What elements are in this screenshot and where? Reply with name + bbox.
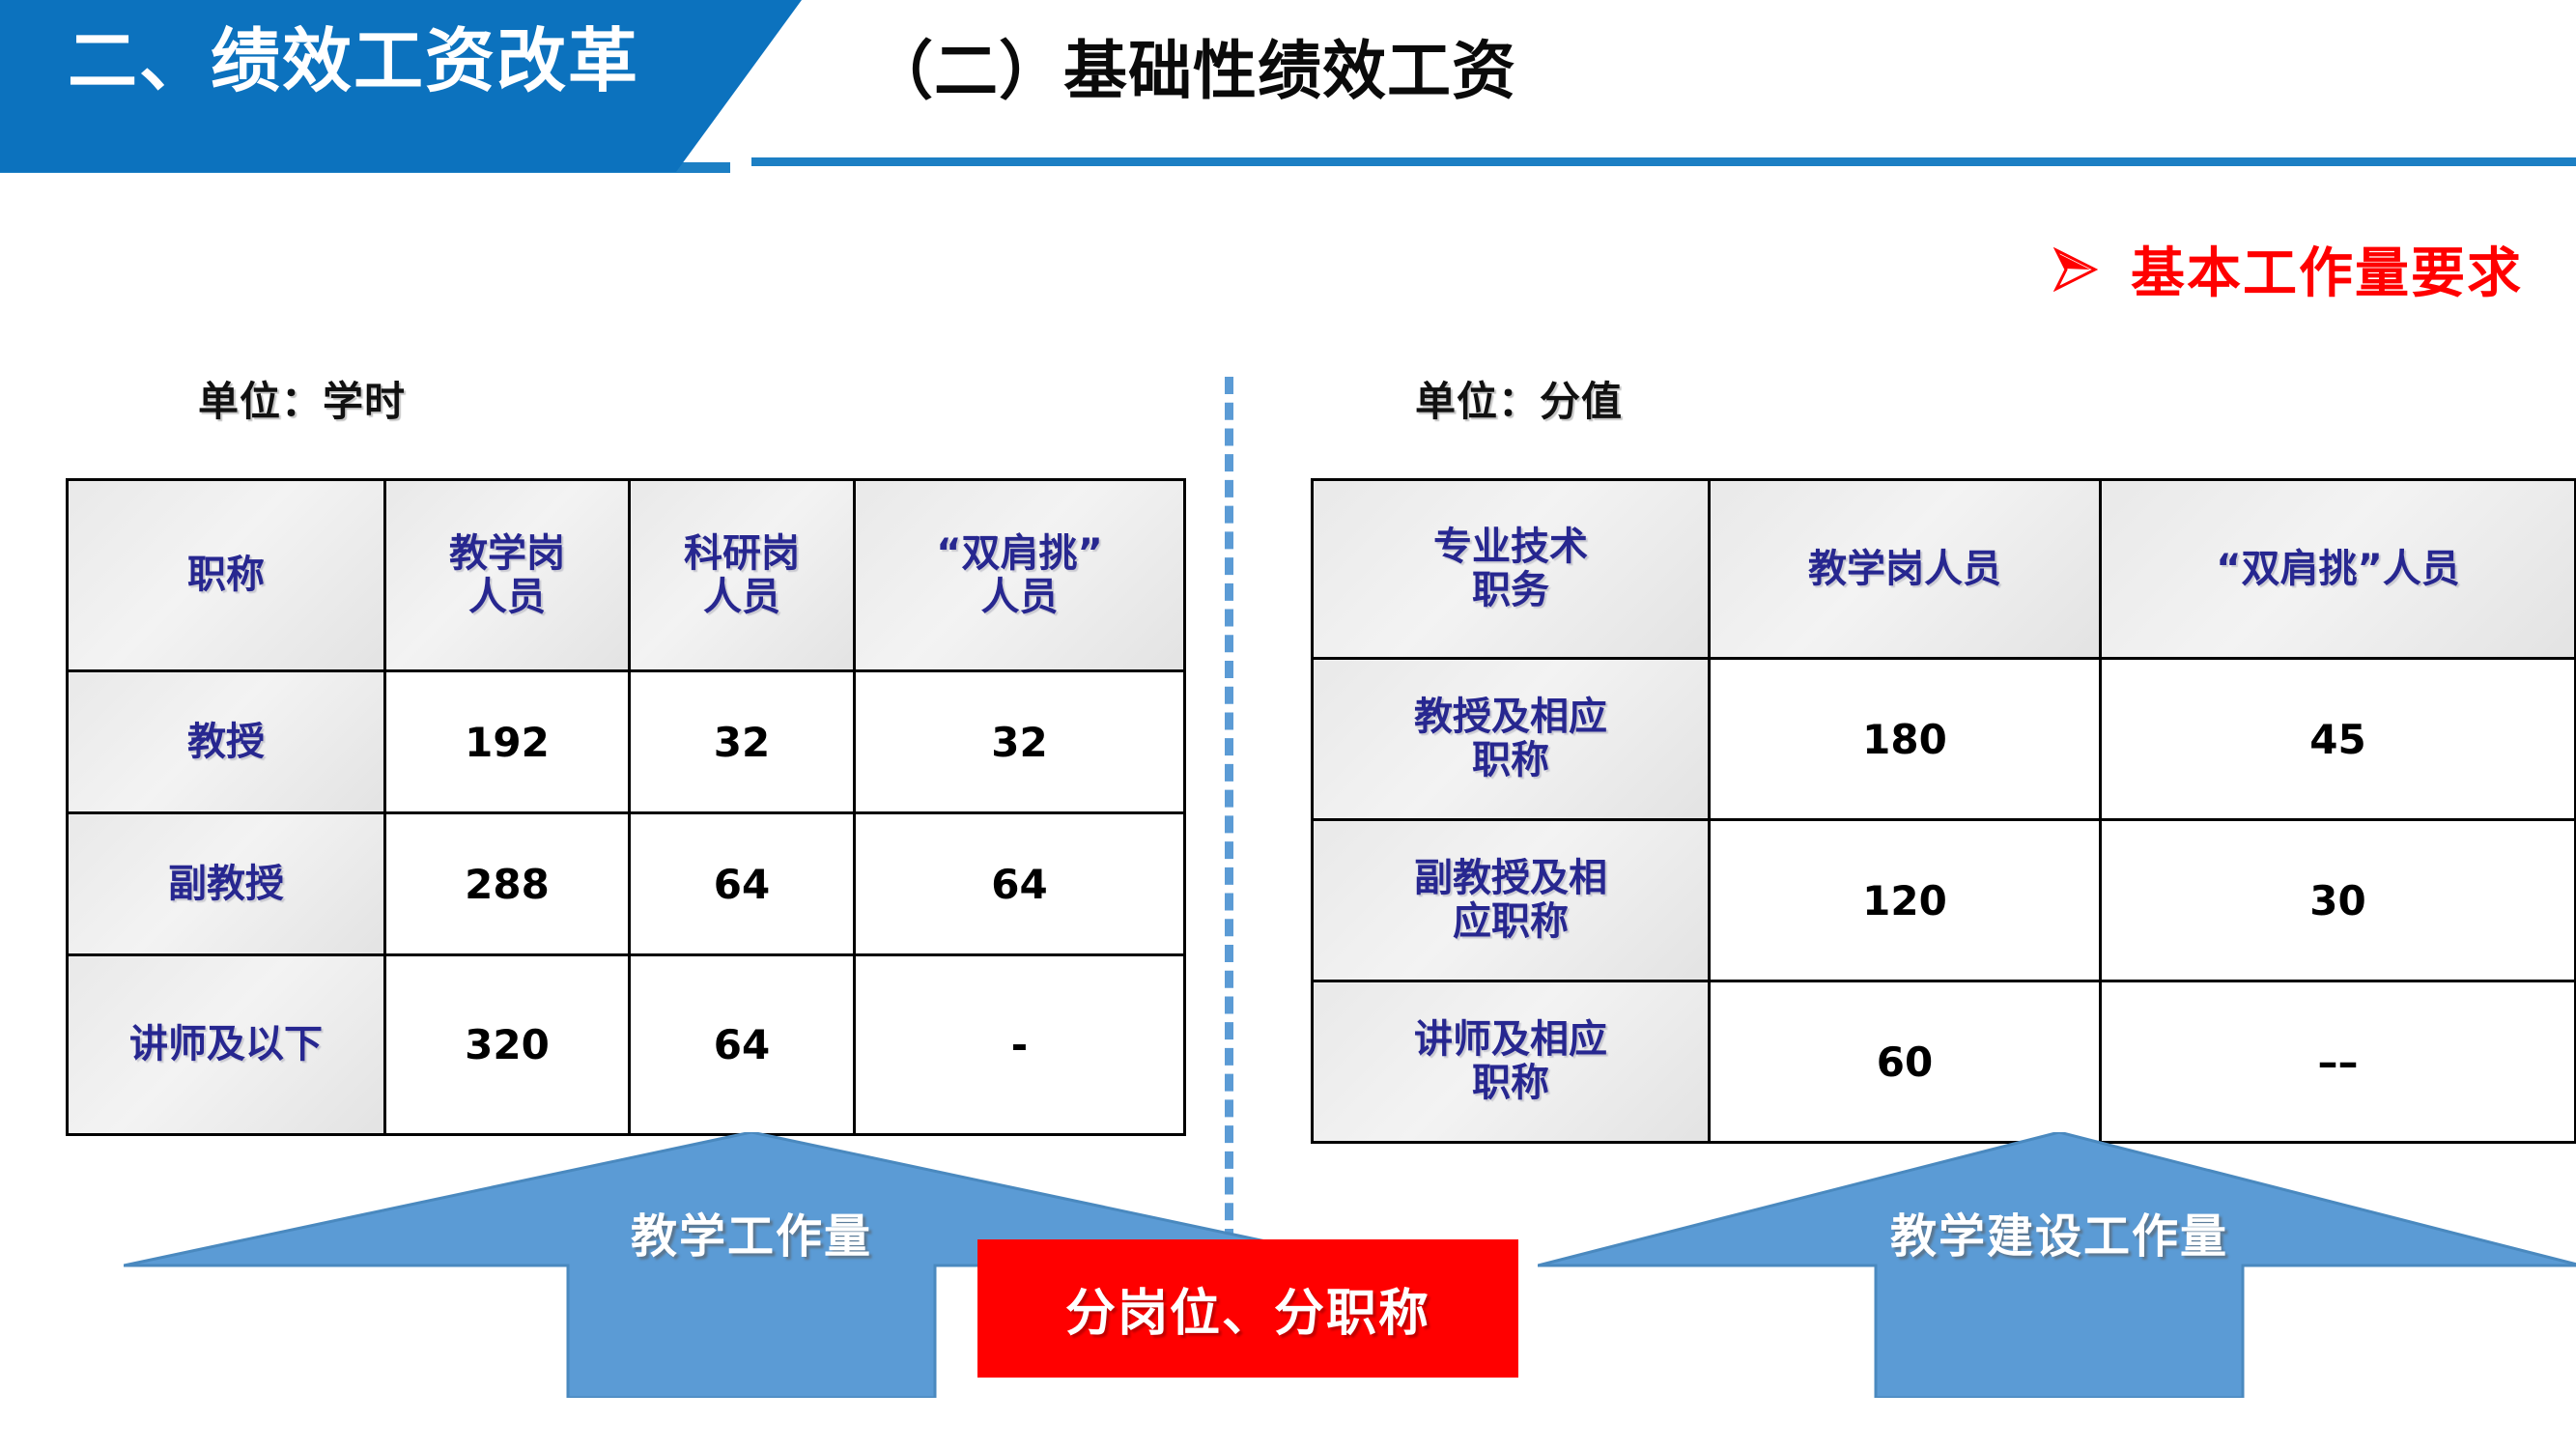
row-label-lecturer-and-below: 讲师及以下: [68, 955, 385, 1135]
table-row: 讲师及以下 320 64 -: [68, 955, 1185, 1135]
header-banner: 二、绩效工资改革: [0, 0, 802, 172]
left-unit-label: 单位：学时: [198, 369, 406, 428]
table-header-row: 职称 教学岗人员 科研岗人员 “双肩挑”人员: [68, 480, 1185, 671]
right-unit-label: 单位：分值: [1415, 369, 1623, 428]
row-label-professor: 教授: [68, 671, 385, 813]
cell-professor-teaching-score: 180: [1710, 659, 2101, 820]
cell-associate-teaching-score: 120: [1710, 820, 2101, 981]
center-callout-label: 分岗位、分职称: [1065, 1272, 1430, 1345]
row-label-associate-professor: 副教授: [68, 813, 385, 955]
cell-lecturer-dual-score: ––: [2101, 981, 2576, 1143]
arrow-bullet-icon: [2053, 246, 2098, 293]
vertical-dashed-divider: [1225, 377, 1233, 1246]
header-banner-label: 二、绩效工资改革: [68, 17, 639, 104]
cell-associate-dual-score: 30: [2101, 820, 2576, 981]
basic-workload-heading: 基本工作量要求: [2053, 230, 2523, 308]
header-cell-research-post: 科研岗人员: [630, 480, 855, 671]
page-title: （二）基础性绩效工资: [869, 19, 1516, 112]
table-row: 教授 192 32 32: [68, 671, 1185, 813]
table-row: 讲师及相应职称 60 ––: [1313, 981, 2576, 1143]
teaching-construction-score-table: 专业技术职务 教学岗人员 “双肩挑”人员 教授及相应职称 180 45 副教授及…: [1311, 478, 2576, 1144]
header-cell-teaching-post: 教学岗人员: [1710, 480, 2101, 659]
row-label-associate-professor-equivalent: 副教授及相应职称: [1313, 820, 1710, 981]
cell-associate-dual: 64: [855, 813, 1185, 955]
center-callout-box: 分岗位、分职称: [977, 1239, 1518, 1378]
cell-professor-dual-score: 45: [2101, 659, 2576, 820]
header-cell-teaching-post: 教学岗人员: [385, 480, 630, 671]
cell-lecturer-dual: -: [855, 955, 1185, 1135]
header-cell-dual-post: “双肩挑”人员: [2101, 480, 2576, 659]
header-horizontal-rule: [751, 157, 2576, 166]
table-row: 副教授及相应职称 120 30: [1313, 820, 2576, 981]
header-cell-dual-post: “双肩挑”人员: [855, 480, 1185, 671]
cell-lecturer-research: 64: [630, 955, 855, 1135]
cell-lecturer-teaching-score: 60: [1710, 981, 2101, 1143]
cell-lecturer-teaching: 320: [385, 955, 630, 1135]
cell-professor-dual: 32: [855, 671, 1185, 813]
cell-professor-teaching: 192: [385, 671, 630, 813]
basic-workload-heading-label: 基本工作量要求: [2131, 230, 2523, 308]
table-row: 副教授 288 64 64: [68, 813, 1185, 955]
header-cell-title: 职称: [68, 480, 385, 671]
teaching-construction-workload-arrow: 教学建设工作量: [1538, 1132, 2576, 1398]
table-header-row: 专业技术职务 教学岗人员 “双肩挑”人员: [1313, 480, 2576, 659]
teaching-hours-table: 职称 教学岗人员 科研岗人员 “双肩挑”人员 教授 192 32 32 副教授 …: [66, 478, 1186, 1136]
teaching-construction-workload-arrow-label: 教学建设工作量: [1538, 1198, 2576, 1265]
table-row: 教授及相应职称 180 45: [1313, 659, 2576, 820]
cell-professor-research: 32: [630, 671, 855, 813]
header-cell-professional-title: 专业技术职务: [1313, 480, 1710, 659]
cell-associate-research: 64: [630, 813, 855, 955]
row-label-lecturer-equivalent: 讲师及相应职称: [1313, 981, 1710, 1143]
cell-associate-teaching: 288: [385, 813, 630, 955]
row-label-professor-equivalent: 教授及相应职称: [1313, 659, 1710, 820]
